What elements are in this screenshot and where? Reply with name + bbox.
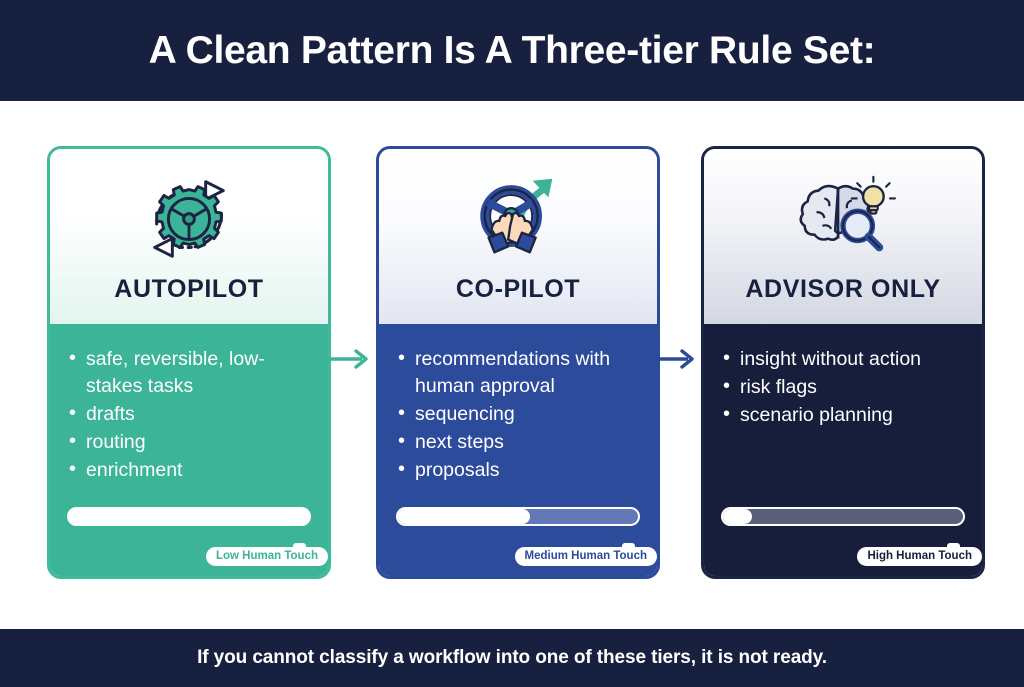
- status-badge-low-human-touch: Low Human Touch: [206, 547, 328, 566]
- status-badge-high-human-touch: High Human Touch: [857, 547, 982, 566]
- tier-title-autopilot: AUTOPILOT: [114, 275, 263, 304]
- hands-on-steering-wheel-arrow-icon: [464, 165, 572, 273]
- tier-card-advisor-only[interactable]: ADVISOR ONLY insight without action risk…: [701, 146, 985, 579]
- slider-fill: [723, 509, 752, 524]
- slider-track[interactable]: [721, 507, 965, 526]
- tier-card-header-advisor-only: ADVISOR ONLY: [704, 149, 982, 324]
- arrow-autopilot-to-copilot: [326, 347, 374, 371]
- human-touch-slider-advisor-only[interactable]: [721, 507, 965, 526]
- slider-fill: [398, 509, 530, 524]
- list-item: drafts: [67, 401, 311, 428]
- tier-body-copilot: recommendations with human approval sequ…: [379, 324, 657, 576]
- list-item: routing: [67, 429, 311, 456]
- header-banner: A Clean Pattern Is A Three-tier Rule Set…: [0, 0, 1024, 101]
- list-item: scenario planning: [721, 402, 965, 429]
- tier-body-autopilot: safe, reversible, low-stakes tasks draft…: [50, 324, 328, 576]
- infographic-poster: A Clean Pattern Is A Three-tier Rule Set…: [0, 0, 1024, 687]
- tier-body-advisor-only: insight without action risk flags scenar…: [704, 324, 982, 576]
- footer-banner: If you cannot classify a workflow into o…: [0, 629, 1024, 687]
- slider-fill: [69, 509, 309, 524]
- brain-lightbulb-magnifier-icon: [789, 165, 897, 273]
- list-item: enrichment: [67, 457, 311, 484]
- tier-bullet-list-copilot: recommendations with human approval sequ…: [396, 346, 640, 484]
- list-item: safe, reversible, low-stakes tasks: [67, 346, 311, 400]
- gear-steering-wheel-cycle-icon: [135, 165, 243, 273]
- footer-text: If you cannot classify a workflow into o…: [197, 647, 827, 669]
- tier-bullet-list-autopilot: safe, reversible, low-stakes tasks draft…: [67, 346, 311, 484]
- tier-card-header-copilot: CO-PILOT: [379, 149, 657, 324]
- slider-track[interactable]: [396, 507, 640, 526]
- tier-cards-row: AUTOPILOT safe, reversible, low-stakes t…: [0, 101, 1024, 629]
- arrow-copilot-to-advisor: [652, 347, 700, 371]
- human-touch-slider-copilot[interactable]: [396, 507, 640, 526]
- tier-bullet-list-advisor-only: insight without action risk flags scenar…: [721, 346, 965, 429]
- human-touch-slider-autopilot[interactable]: [67, 507, 311, 526]
- list-item: risk flags: [721, 374, 965, 401]
- tier-card-header-autopilot: AUTOPILOT: [50, 149, 328, 324]
- list-item: insight without action: [721, 346, 965, 373]
- status-badge-medium-human-touch: Medium Human Touch: [515, 547, 657, 566]
- tier-title-advisor-only: ADVISOR ONLY: [745, 275, 940, 304]
- tier-title-copilot: CO-PILOT: [456, 275, 580, 304]
- page-title: A Clean Pattern Is A Three-tier Rule Set…: [149, 29, 876, 73]
- list-item: next steps: [396, 429, 640, 456]
- tier-card-copilot[interactable]: CO-PILOT recommendations with human appr…: [376, 146, 660, 579]
- list-item: sequencing: [396, 401, 640, 428]
- list-item: recommendations with human approval: [396, 346, 640, 400]
- slider-track[interactable]: [67, 507, 311, 526]
- list-item: proposals: [396, 457, 640, 484]
- tier-card-autopilot[interactable]: AUTOPILOT safe, reversible, low-stakes t…: [47, 146, 331, 579]
